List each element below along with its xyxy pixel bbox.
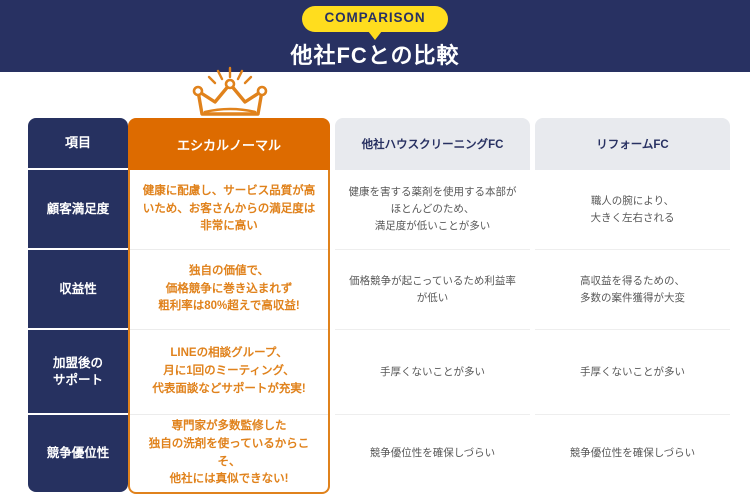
competitor-1-cell-1: 価格競争が起こっているため利益率が低い	[335, 250, 530, 330]
comparison-badge-wrapper: COMPARISON	[0, 6, 750, 32]
page-title: 他社FCとの比較	[0, 38, 750, 70]
competitor-2-cell-1: 高収益を得るための、多数の案件獲得が大変	[535, 250, 730, 330]
row-label-3: 競争優位性	[28, 415, 128, 492]
comparison-badge-label: COMPARISON	[324, 10, 425, 25]
competitor-column-1-header: 他社ハウスクリーニングFC	[335, 118, 530, 170]
comparison-table: 項目 顧客満足度 収益性 加盟後のサポート 競争優位性 エシカルノーマル 健康に…	[28, 118, 730, 492]
feature-column: エシカルノーマル 健康に配慮し、サービス品質が高いため、お客さんからの満足度は非…	[128, 118, 330, 492]
header-band: COMPARISON 他社FCとの比較	[0, 0, 750, 72]
comparison-badge: COMPARISON	[302, 6, 447, 32]
feature-column-header: エシカルノーマル	[128, 118, 330, 170]
competitor-2-cell-0: 職人の腕により、大きく左右される	[535, 170, 730, 250]
feature-cell-3: 専門家が多数監修した独自の洗剤を使っているからこそ、他社には真似できない!	[130, 415, 328, 492]
competitor-column-2-header: リフォームFC	[535, 118, 730, 170]
feature-cell-2: LINEの相談グループ、月に1回のミーティング、代表面談などサポートが充実!	[130, 330, 328, 415]
label-column-header: 項目	[28, 118, 128, 170]
row-label-1: 収益性	[28, 250, 128, 330]
competitor-column-1: 他社ハウスクリーニングFC 健康を害する薬剤を使用する本部がほとんどのため、満足…	[335, 118, 530, 492]
feature-cell-1: 独自の価値で、価格競争に巻き込まれず粗利率は80%超えで高収益!	[130, 250, 328, 330]
crown-icon	[188, 66, 272, 122]
feature-column-body: 健康に配慮し、サービス品質が高いため、お客さんからの満足度は非常に高い 独自の価…	[128, 170, 330, 494]
row-label-2: 加盟後のサポート	[28, 330, 128, 415]
competitor-column-2: リフォームFC 職人の腕により、大きく左右される 高収益を得るための、多数の案件…	[535, 118, 730, 492]
competitor-1-cell-2: 手厚くないことが多い	[335, 330, 530, 415]
competitor-2-cell-3: 競争優位性を確保しづらい	[535, 415, 730, 492]
label-column: 項目 顧客満足度 収益性 加盟後のサポート 競争優位性	[28, 118, 128, 492]
competitor-column-1-body: 健康を害する薬剤を使用する本部がほとんどのため、満足度が低いことが多い 価格競争…	[335, 170, 530, 492]
feature-cell-0: 健康に配慮し、サービス品質が高いため、お客さんからの満足度は非常に高い	[130, 170, 328, 250]
row-label-0: 顧客満足度	[28, 170, 128, 250]
competitor-column-2-body: 職人の腕により、大きく左右される 高収益を得るための、多数の案件獲得が大変 手厚…	[535, 170, 730, 492]
competitor-1-cell-0: 健康を害する薬剤を使用する本部がほとんどのため、満足度が低いことが多い	[335, 170, 530, 250]
competitor-1-cell-3: 競争優位性を確保しづらい	[335, 415, 530, 492]
competitor-2-cell-2: 手厚くないことが多い	[535, 330, 730, 415]
